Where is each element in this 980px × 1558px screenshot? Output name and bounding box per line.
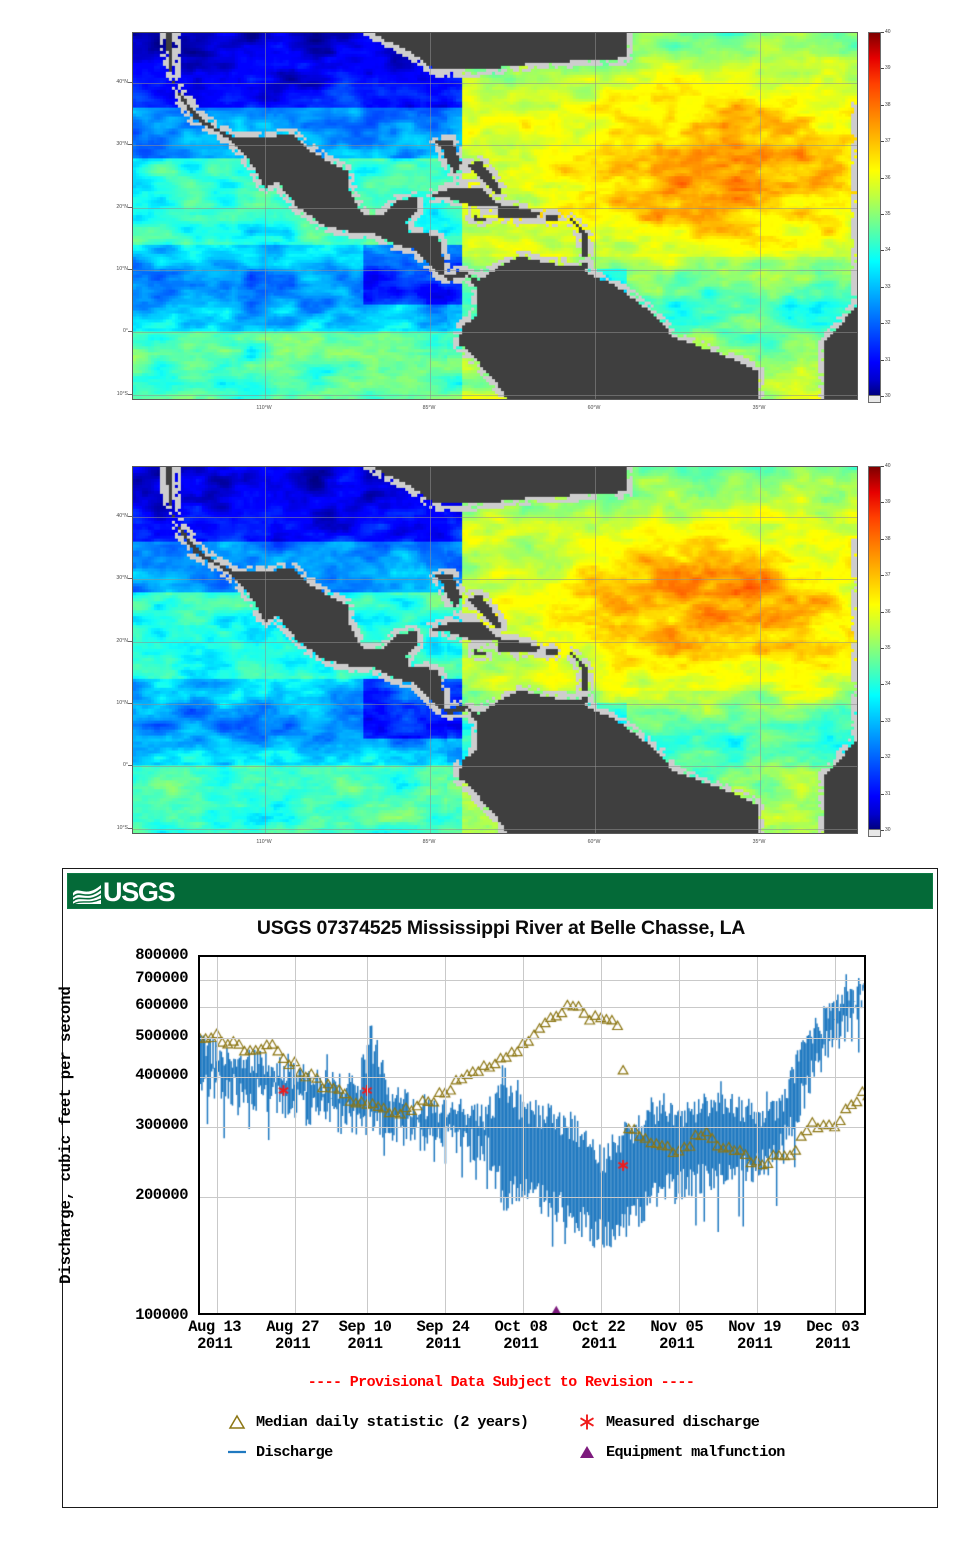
usgs-banner: USGS [67, 873, 933, 909]
map1-latitude-axis: 40°N30°N20°N10°N0°10°S [100, 32, 132, 400]
map1-colorbar: 4039383736353433323130 [868, 32, 890, 404]
x-tick-year: 2011 [188, 1336, 241, 1353]
x-tick-year: 2011 [417, 1336, 470, 1353]
lat-tick-label: 10°S [117, 825, 128, 831]
legend-item-measured-discharge[interactable]: Measured discharge [577, 1409, 759, 1435]
map2-longitude-axis: 110°W85°W60°W35°W [132, 836, 858, 850]
colorbar-tick-label: 33 [885, 718, 891, 724]
x-tick-label: Sep 102011 [339, 1319, 392, 1354]
hydrograph-plot-area [198, 955, 866, 1315]
colorbar-tick-label: 32 [885, 320, 891, 326]
x-tick-date: Oct 22 [572, 1319, 625, 1336]
x-tick-date: Nov 05 [650, 1319, 703, 1336]
colorbar-tick-label: 38 [885, 102, 891, 108]
x-tick-label: Aug 272011 [266, 1319, 319, 1354]
colorbar-tick-label: 30 [885, 393, 891, 399]
colorbar-tick-label: 39 [885, 499, 891, 505]
x-tick-date: Aug 27 [266, 1319, 319, 1336]
x-tick-year: 2011 [650, 1336, 703, 1353]
legend-item-equipment-malfunction[interactable]: Equipment malfunction [577, 1439, 785, 1465]
provisional-data-note: ---- Provisional Data Subject to Revisio… [63, 1374, 939, 1391]
x-tick-date: Dec 03 [806, 1319, 859, 1336]
lon-tick-label: 35°W [753, 405, 766, 411]
x-tick-year: 2011 [339, 1336, 392, 1353]
map1-plot-area [132, 32, 858, 400]
colorbar-tick-label: 34 [885, 681, 891, 687]
colorbar-tick-label: 32 [885, 754, 891, 760]
asterisk-marker-icon [577, 1412, 597, 1432]
x-tick-date: Oct 08 [494, 1319, 547, 1336]
colorbar-tick-label: 35 [885, 211, 891, 217]
y-tick-label: 500000 [135, 1027, 188, 1045]
salinity-map-figure-2: 40°N30°N20°N10°N0°10°S 110°W85°W60°W35°W… [100, 458, 890, 848]
x-tick-label: Aug 132011 [188, 1319, 241, 1354]
map2-plot-area [132, 466, 858, 834]
x-tick-label: Nov 192011 [728, 1319, 781, 1354]
colorbar-tick-label: 40 [885, 463, 891, 469]
colorbar-tick-label: 31 [885, 791, 891, 797]
x-tick-label: Oct 082011 [494, 1319, 547, 1354]
x-tick-label: Sep 242011 [417, 1319, 470, 1354]
lat-tick-label: 10°N [116, 266, 128, 272]
usgs-wordmark: USGS [103, 879, 174, 906]
x-axis-tick-labels: Aug 132011Aug 272011Sep 102011Sep 242011… [198, 1319, 866, 1367]
map2-latitude-axis: 40°N30°N20°N10°N0°10°S [100, 466, 132, 834]
legend-label-malfunction: Equipment malfunction [606, 1443, 785, 1461]
colorbar-tick-label: 34 [885, 247, 891, 253]
x-tick-date: Aug 13 [188, 1319, 241, 1336]
usgs-hydrograph-panel: USGS USGS 07374525 Mississippi River at … [62, 868, 938, 1508]
colorbar-tick-label: 33 [885, 284, 891, 290]
map1-colorbar-ticks: 4039383736353433323130 [881, 32, 890, 404]
lat-tick-label: 30°N [116, 141, 128, 147]
map2-sea-surface-salinity-raster [133, 467, 857, 833]
lon-tick-label: 35°W [753, 839, 766, 845]
lon-tick-label: 85°W [423, 839, 436, 845]
open-triangle-marker-icon [227, 1412, 247, 1432]
lat-tick-label: 20°N [116, 204, 128, 210]
legend-label-discharge: Discharge [256, 1443, 333, 1461]
colorbar-tick-label: 38 [885, 536, 891, 542]
map2-colorbar: 4039383736353433323130 [868, 466, 890, 838]
lat-tick-label: 10°N [116, 700, 128, 706]
x-tick-label: Nov 052011 [650, 1319, 703, 1354]
y-tick-label: 100000 [135, 1306, 188, 1324]
y-tick-label: 300000 [135, 1116, 188, 1134]
y-tick-label: 600000 [135, 996, 188, 1014]
map2-colorbar-gradient [868, 466, 881, 830]
y-tick-label: 700000 [135, 969, 188, 987]
lon-tick-label: 60°W [588, 405, 601, 411]
map2-colorbar-ticks: 4039383736353433323130 [881, 466, 890, 838]
lon-tick-label: 110°W [256, 405, 271, 411]
usgs-wave-icon [72, 879, 102, 905]
x-tick-date: Sep 24 [417, 1319, 470, 1336]
x-tick-year: 2011 [806, 1336, 859, 1353]
colorbar-tick-label: 36 [885, 609, 891, 615]
x-tick-label: Dec 032011 [806, 1319, 859, 1354]
colorbar-tick-label: 40 [885, 29, 891, 35]
x-tick-year: 2011 [572, 1336, 625, 1353]
colorbar-tick-label: 39 [885, 65, 891, 71]
lon-tick-label: 110°W [256, 839, 271, 845]
chart-legend: Median daily statistic (2 years) Dischar… [203, 1409, 903, 1479]
line-marker-icon [227, 1442, 247, 1462]
lat-tick-label: 40°N [116, 513, 128, 519]
x-tick-year: 2011 [728, 1336, 781, 1353]
map2-colorbar-nodata-swatch [868, 830, 881, 837]
colorbar-tick-label: 31 [885, 357, 891, 363]
salinity-map-figure-1: 40°N30°N20°N10°N0°10°S 110°W85°W60°W35°W… [100, 24, 890, 414]
colorbar-tick-label: 37 [885, 572, 891, 578]
lat-tick-label: 40°N [116, 79, 128, 85]
lat-tick-label: 30°N [116, 575, 128, 581]
discharge-series-canvas [200, 957, 866, 1315]
chart-title: USGS 07374525 Mississippi River at Belle… [63, 917, 939, 940]
legend-label-measured: Measured discharge [606, 1413, 759, 1431]
x-tick-year: 2011 [494, 1336, 547, 1353]
y-axis-tick-labels: 8000007000006000005000004000003000002000… [63, 955, 194, 1315]
x-tick-date: Sep 10 [339, 1319, 392, 1336]
y-tick-label: 800000 [135, 946, 188, 964]
legend-label-median: Median daily statistic (2 years) [256, 1413, 528, 1431]
lon-tick-label: 85°W [423, 405, 436, 411]
colorbar-tick-label: 35 [885, 645, 891, 651]
lat-tick-label: 10°S [117, 391, 128, 397]
x-tick-year: 2011 [266, 1336, 319, 1353]
map1-longitude-axis: 110°W85°W60°W35°W [132, 402, 858, 416]
x-tick-date: Nov 19 [728, 1319, 781, 1336]
map1-colorbar-gradient [868, 32, 881, 396]
usgs-logo[interactable]: USGS [72, 876, 222, 908]
lat-tick-label: 20°N [116, 638, 128, 644]
x-tick-label: Oct 222011 [572, 1319, 625, 1354]
y-tick-label: 400000 [135, 1066, 188, 1084]
colorbar-tick-label: 36 [885, 175, 891, 181]
filled-triangle-marker-icon [577, 1442, 597, 1462]
y-tick-label: 200000 [135, 1186, 188, 1204]
legend-item-discharge[interactable]: Discharge [227, 1439, 333, 1465]
map1-sea-surface-salinity-raster [133, 33, 857, 399]
colorbar-tick-label: 30 [885, 827, 891, 833]
colorbar-tick-label: 37 [885, 138, 891, 144]
lon-tick-label: 60°W [588, 839, 601, 845]
map1-colorbar-nodata-swatch [868, 396, 881, 403]
legend-item-median[interactable]: Median daily statistic (2 years) [227, 1409, 528, 1435]
